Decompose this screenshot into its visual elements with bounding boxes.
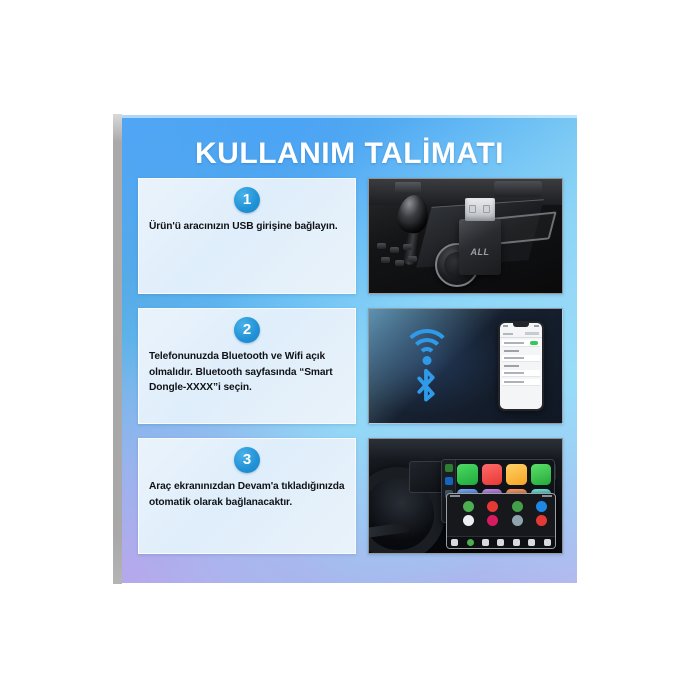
section-label-text <box>504 365 519 367</box>
app-icon-calendar <box>512 515 523 526</box>
list-item <box>502 379 540 386</box>
air-vent-right-icon <box>494 181 542 197</box>
status-left <box>450 495 460 497</box>
page-title: KULLANIM TALİMATI <box>122 137 577 171</box>
step-instruction-text-3: Araç ekranınızdan Devam'a tıkladığınızda… <box>149 479 345 510</box>
phone-status-bar <box>503 324 539 327</box>
row-label <box>504 342 524 344</box>
carplay-sidebar-icon <box>445 477 453 485</box>
app-icon-messages <box>531 464 552 485</box>
dock-apps-icon <box>451 539 458 546</box>
dock-next-icon <box>513 539 520 546</box>
overlay-dock-bar <box>447 536 555 548</box>
row-label <box>504 372 524 374</box>
smartphone-settings-screen <box>498 321 544 411</box>
dongle-body: ALL <box>459 219 501 275</box>
page-canvas: KULLANIM TALİMATI 1 Ürün'ü aracınızın US… <box>0 0 700 700</box>
step-row-3: 3 Araç ekranınızdan Devam'a tıkladığınız… <box>138 438 563 554</box>
console-button <box>377 243 386 249</box>
list-section-label <box>504 365 538 369</box>
status-right <box>542 495 552 497</box>
bluetooth-toggle-row <box>502 340 540 347</box>
dock-settings-icon <box>528 539 535 546</box>
step-row-1: 1 Ürün'ü aracınızın USB girişine bağlayı… <box>138 178 563 294</box>
console-button <box>390 247 399 253</box>
app-icon-messenger <box>487 515 498 526</box>
console-button <box>395 260 404 266</box>
app-icon-chat <box>463 515 474 526</box>
app-icon-maps <box>506 464 527 485</box>
console-button <box>408 256 417 262</box>
bluetooth-icon <box>409 367 443 411</box>
console-button <box>403 244 412 250</box>
bluetooth-toggle-on <box>530 341 538 345</box>
poster-left-edge-shadow <box>113 114 122 584</box>
overlay-status-bar <box>450 495 552 499</box>
app-icon-spotify <box>512 501 523 512</box>
step-number-badge-1: 1 <box>234 187 260 213</box>
step-text-card-2: 2 Telefonunuzda Bluetooth ve Wifi açık o… <box>138 308 356 424</box>
wifi-dot <box>423 356 432 365</box>
app-icon-music <box>482 464 503 485</box>
section-label-text <box>504 350 519 352</box>
status-battery-icon <box>534 325 539 327</box>
step-image-2 <box>368 308 563 424</box>
usb-plug-icon <box>465 198 495 221</box>
nav-title <box>525 332 539 335</box>
steps-list: 1 Ürün'ü aracınızın USB girişine bağlayı… <box>138 178 563 554</box>
row-label <box>504 357 524 359</box>
bluetooth-device-list <box>502 340 540 388</box>
button-cluster <box>375 241 429 275</box>
dock-prev-icon <box>482 539 489 546</box>
app-icon-audiobooks <box>536 515 547 526</box>
dock-play-icon <box>497 539 504 546</box>
app-icon-google-maps <box>463 501 474 512</box>
app-icon-phone <box>457 464 478 485</box>
phone-nav-bar <box>500 330 542 338</box>
list-item <box>502 355 540 362</box>
dock-exit-icon <box>544 539 551 546</box>
step-number-badge-2: 2 <box>234 317 260 343</box>
back-label <box>503 333 513 335</box>
step-text-card-1: 1 Ürün'ü aracınızın USB girişine bağlayı… <box>138 178 356 294</box>
app-icon-yt-music <box>487 501 498 512</box>
app-icon-phone <box>536 501 547 512</box>
step-image-3 <box>368 438 563 554</box>
overlay-app-grid <box>459 501 551 526</box>
step-instruction-text-1: Ürün'ü aracınızın USB girişine bağlayın. <box>149 219 345 235</box>
dock-call-icon <box>467 539 474 546</box>
status-time <box>503 325 508 327</box>
air-vent-left-icon <box>395 182 421 194</box>
step-instruction-text-2: Telefonunuzda Bluetooth ve Wifi açık olm… <box>149 349 345 396</box>
carplay-sidebar-icon <box>445 464 453 472</box>
dashboard-top <box>369 439 562 461</box>
android-auto-overlay <box>446 493 556 549</box>
step-image-1: ALL <box>368 178 563 294</box>
list-item <box>502 370 540 377</box>
wifi-icon <box>401 329 453 363</box>
instruction-poster: KULLANIM TALİMATI 1 Ürün'ü aracınızın US… <box>122 115 577 583</box>
step-text-card-3: 3 Araç ekranınızdan Devam'a tıkladığınız… <box>138 438 356 554</box>
dongle-brand-logo: ALL <box>459 247 501 257</box>
usb-pin <box>469 205 476 213</box>
step-row-2: 2 Telefonunuzda Bluetooth ve Wifi açık o… <box>138 308 563 424</box>
usb-pin <box>483 205 490 213</box>
console-button <box>381 257 390 263</box>
list-section-label <box>504 350 538 354</box>
step-number-badge-3: 3 <box>234 447 260 473</box>
row-label <box>504 381 524 383</box>
